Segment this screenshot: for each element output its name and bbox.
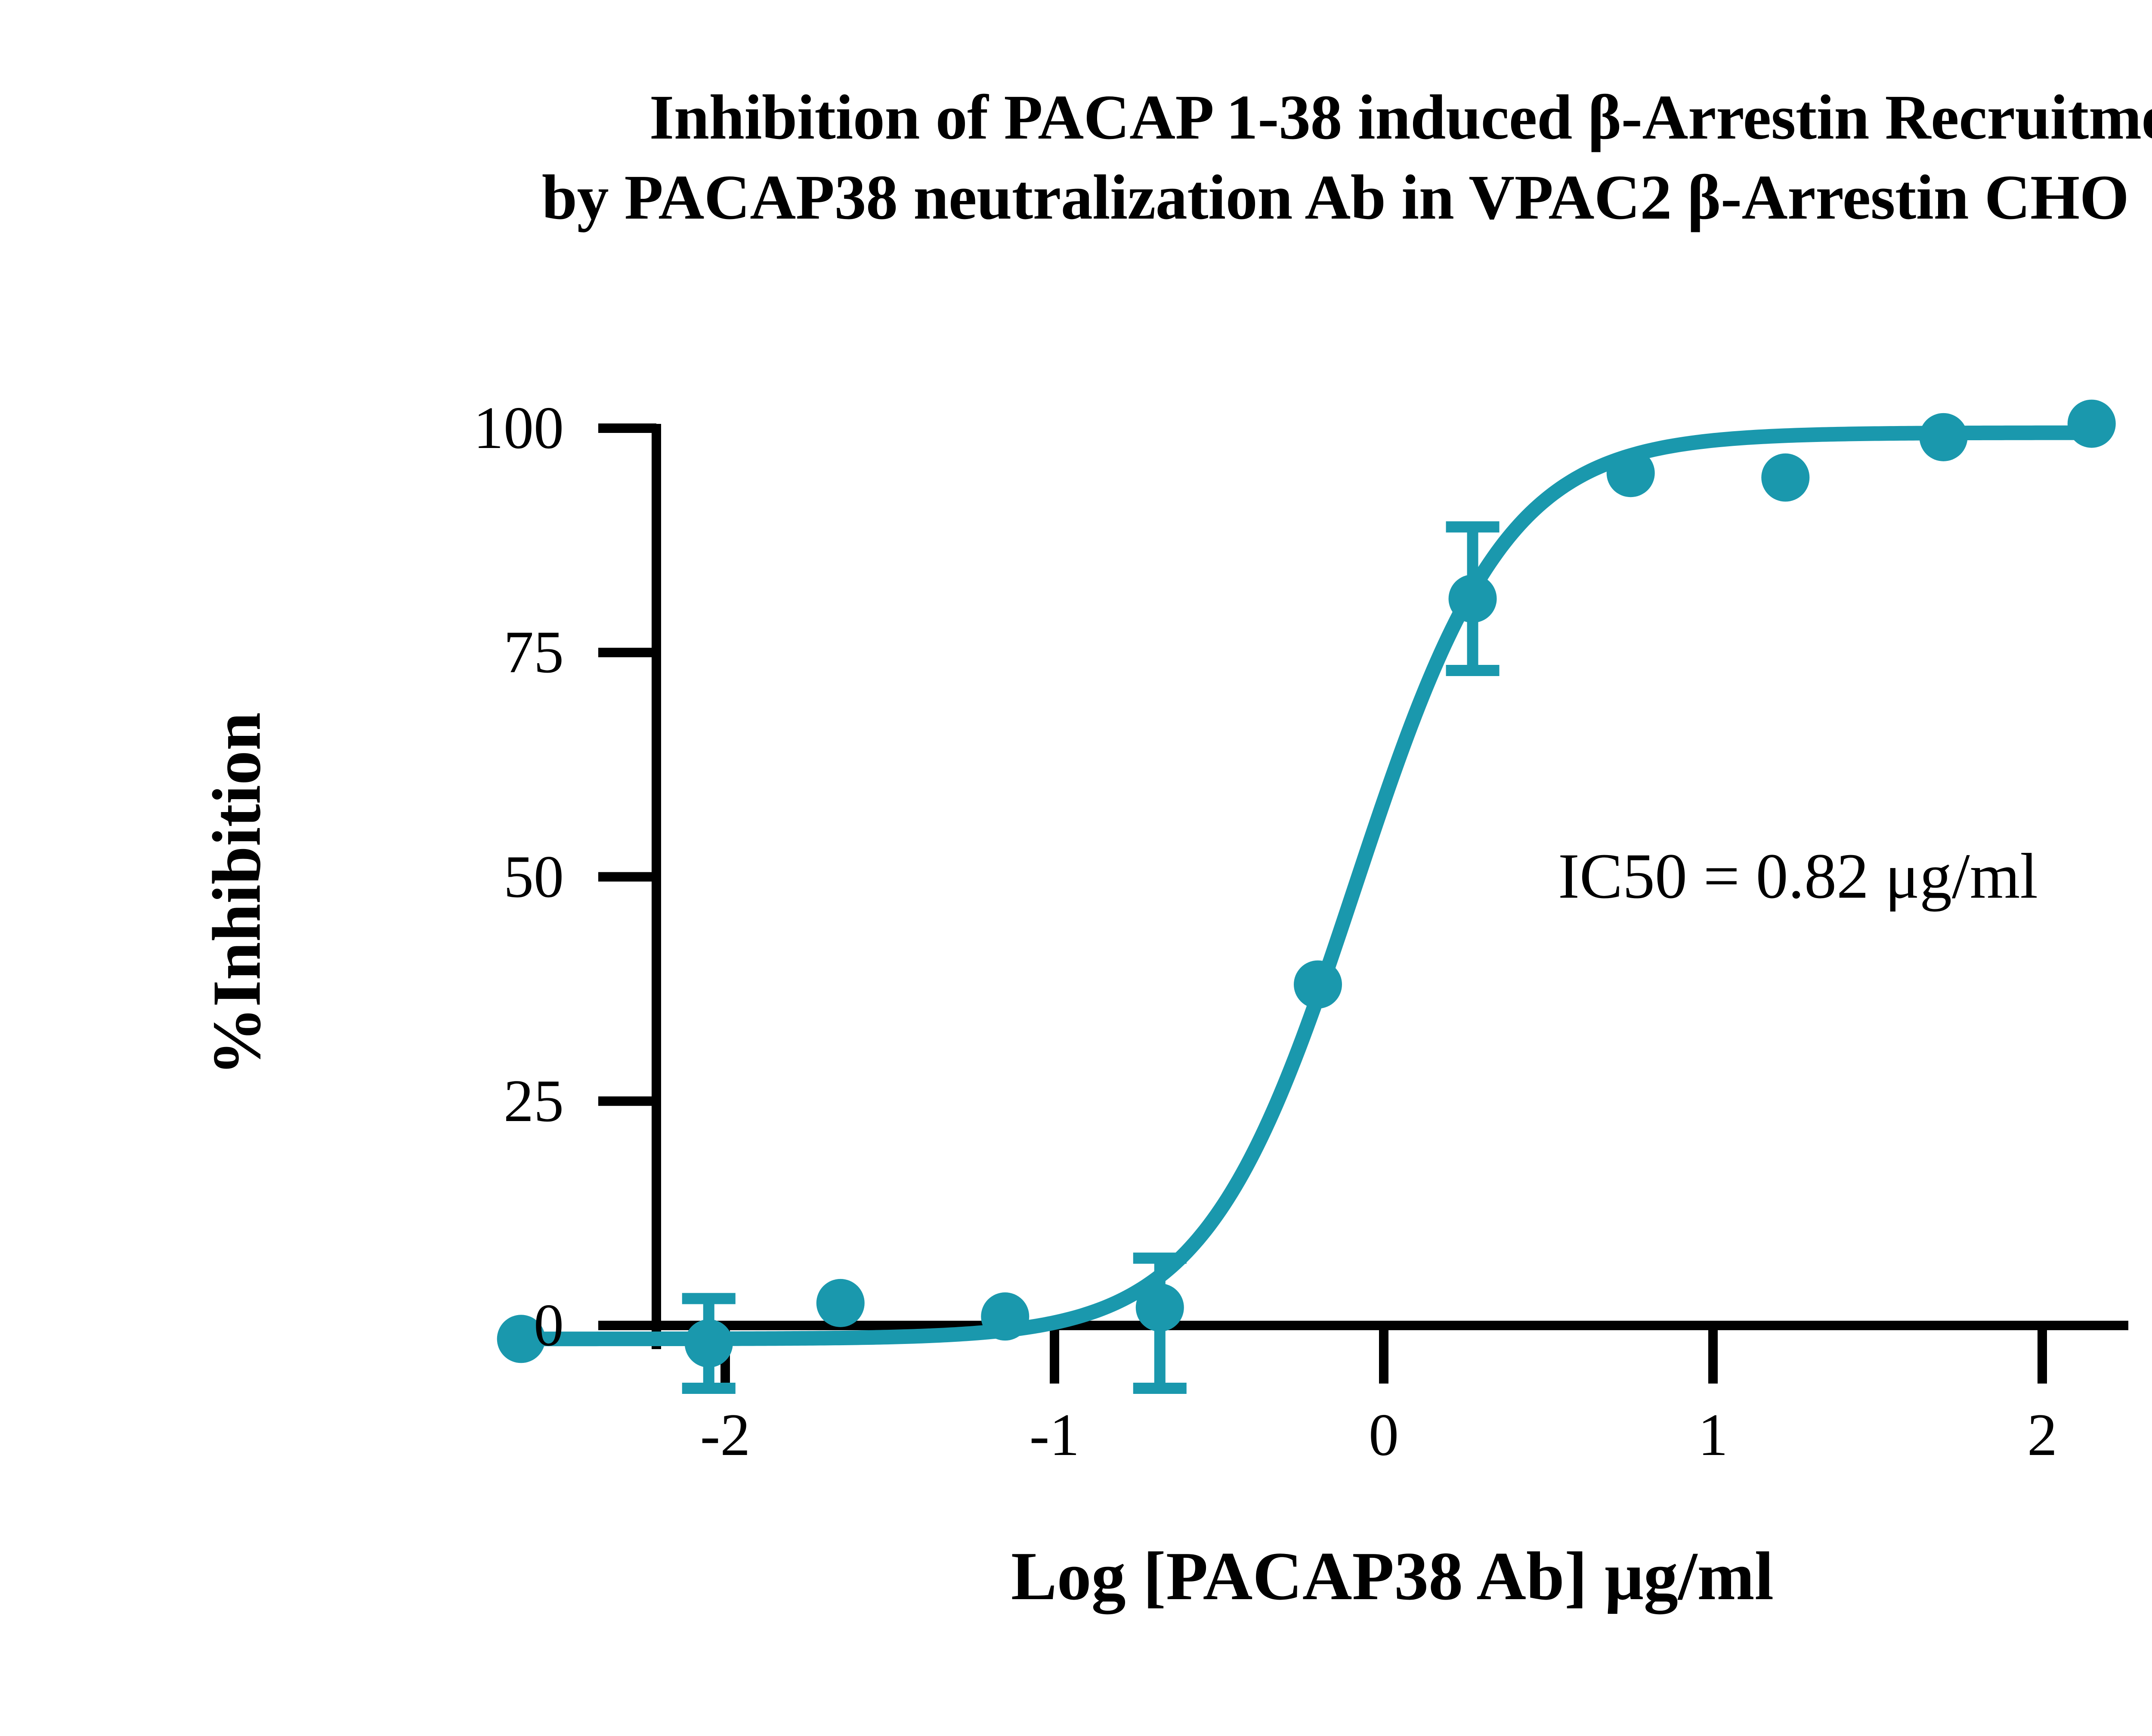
figure-root: Inhibition of PACAP 1-38 induced β-Arres… xyxy=(0,0,2152,1736)
x-tick-label: 2 xyxy=(2027,1405,2057,1465)
data-point xyxy=(1136,1283,1184,1331)
data-point xyxy=(2068,400,2116,448)
y-tick-label: 0 xyxy=(301,1295,564,1356)
data-point xyxy=(981,1292,1029,1341)
x-tick-label: 0 xyxy=(1369,1405,1399,1465)
data-point xyxy=(1607,449,1655,497)
data-point xyxy=(1294,961,1342,1009)
data-point xyxy=(1449,575,1497,623)
ic50-annotation: IC50 = 0.82 μg/ml xyxy=(1558,839,2038,913)
plot-area: 0255075100 -2-1012 %Inhibition Log [PACA… xyxy=(0,0,2152,1736)
x-axis-label: Log [PACAP38 Ab] μg/ml xyxy=(656,1536,2128,1616)
data-point xyxy=(1920,413,1968,461)
x-tick-label: -1 xyxy=(1030,1405,1080,1465)
y-tick-label: 100 xyxy=(301,398,564,458)
y-tick-label: 50 xyxy=(301,847,564,907)
x-tick-label: 1 xyxy=(1698,1405,1728,1465)
y-tick-label: 25 xyxy=(301,1071,564,1131)
data-point xyxy=(1761,454,1809,502)
data-point xyxy=(685,1319,733,1368)
data-point xyxy=(816,1279,865,1327)
x-tick-label: -2 xyxy=(700,1405,751,1465)
y-tick-label: 75 xyxy=(301,622,564,683)
error-bars xyxy=(682,527,1500,1388)
y-axis-label: %Inhibition xyxy=(197,593,277,1195)
